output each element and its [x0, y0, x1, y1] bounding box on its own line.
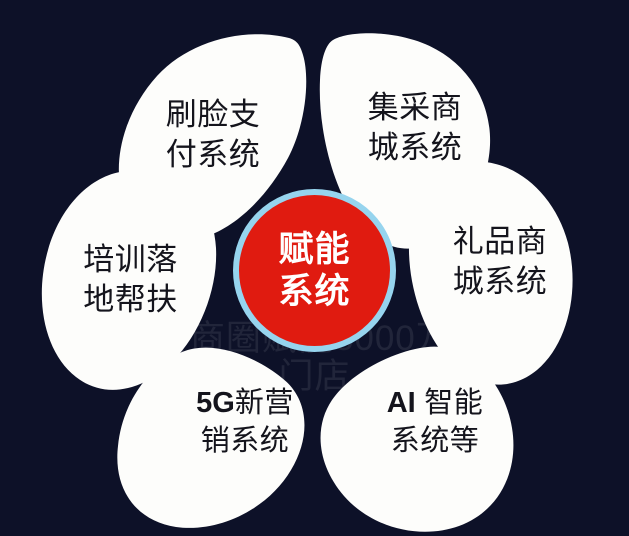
diagram-canvas: 5G新商圈赋能8000万实体 门店 刷脸支 付系统 集采商 城系统 培训落 地帮… — [0, 0, 629, 536]
center-hub-line-1: 赋能 — [278, 229, 350, 270]
center-hub-line-2: 系统 — [278, 271, 350, 312]
petal-shape-bottom-right[interactable] — [321, 347, 514, 532]
center-hub[interactable]: 赋能 系统 — [233, 189, 396, 352]
